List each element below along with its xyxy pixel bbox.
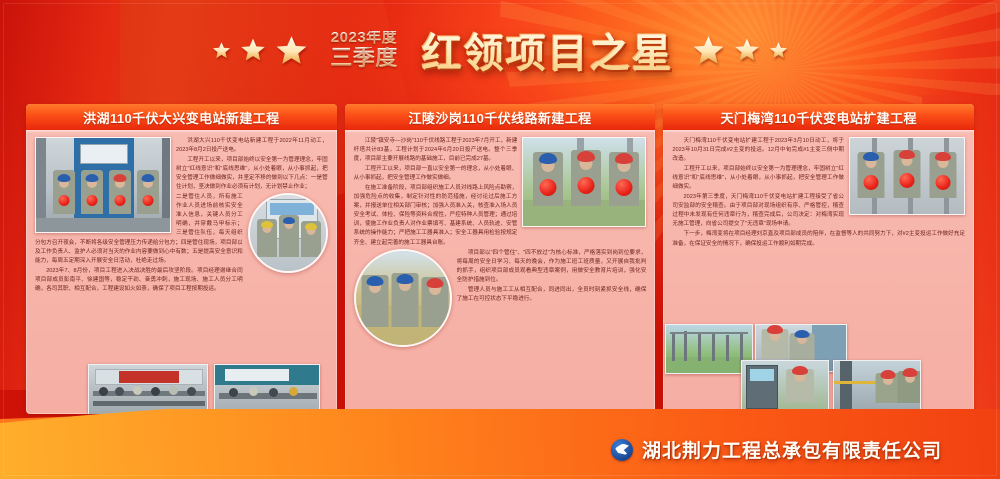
photo-four-workers-at-site-entrance [35, 137, 171, 233]
panel-body-jiangling: 江陵"镇安寺—沙岗"110千伏线路工程于2023年7月开工，新建杆塔共计83基，… [345, 130, 656, 414]
photo-three-workers-with-red-flowers [849, 137, 965, 215]
company-name: 湖北荆力工程总承包有限责任公司 [642, 436, 942, 463]
panel-paragraph: 下一步，梅湾变将在项目经理刘京直及项目部成员的陪伴，在监督等人的共同努力下，对#… [672, 230, 965, 248]
poster-footer: 湖北荆力工程总承包有限责任公司 [0, 409, 1000, 479]
star-small-icon [212, 41, 231, 60]
star-medium-icon [734, 37, 760, 63]
star-small-icon [769, 41, 788, 60]
panel-honghu[interactable]: 洪湖110千伏大兴变电站新建工程 [26, 104, 337, 414]
photo-three-workers-in-field [354, 249, 452, 347]
photo-team-reviewing-equipment-panel [248, 193, 328, 273]
star-large-icon [692, 34, 725, 67]
photo-workers-on-construction-site [833, 360, 921, 414]
photo-worker-at-control-cabinet [741, 360, 829, 414]
company-logo-icon [611, 439, 633, 461]
poster-board: 2023年度 三季度 红领项目之星 [0, 0, 1000, 479]
panel-title: 洪湖110千伏大兴变电站新建工程 [83, 108, 279, 127]
stars-left-group [212, 34, 308, 67]
year-label: 2023年度 [331, 31, 397, 46]
photo-substation-switchyard [665, 324, 753, 374]
photo-indoor-briefing-session [214, 364, 320, 414]
panel-header-honghu: 洪湖110千伏大兴变电站新建工程 [26, 104, 337, 130]
stars-right-group [692, 34, 788, 67]
photo-three-workers-with-red-flowers [522, 137, 646, 227]
panel-jiangling[interactable]: 江陵沙岗110千伏线路新建工程 [345, 104, 656, 414]
panel-body-tianmen: 天门梅湾110千伏变电站扩建工程于2023年3月10日动工，将于2023年10月… [663, 130, 974, 414]
panel-header-tianmen: 天门梅湾110千伏变电站扩建工程 [663, 104, 974, 130]
star-medium-icon [240, 37, 266, 63]
quarter-label: 三季度 [330, 47, 398, 69]
page-title: 红领项目之星 [414, 21, 682, 79]
footer-brand: 湖北荆力工程总承包有限责任公司 [611, 436, 942, 463]
star-large-icon [275, 34, 308, 67]
panel-body-honghu: 洪湖大兴110千伏变电站新建工程于2022年11月动工，2023年8月2日投产送… [26, 130, 337, 414]
period-badge: 2023年度 三季度 [330, 31, 398, 68]
panel-tianmen[interactable]: 天门梅湾110千伏变电站扩建工程 [663, 104, 974, 414]
poster-header: 2023年度 三季度 红领项目之星 [0, 0, 1000, 100]
panel-title: 天门梅湾110千伏变电站扩建工程 [720, 108, 916, 127]
panel-title: 江陵沙岗110千伏线路新建工程 [409, 108, 592, 127]
photo-safety-meeting-training-room [88, 364, 208, 414]
panel-header-jiangling: 江陵沙岗110千伏线路新建工程 [345, 104, 656, 130]
project-panels: 洪湖110千伏大兴变电站新建工程 [0, 104, 1000, 414]
